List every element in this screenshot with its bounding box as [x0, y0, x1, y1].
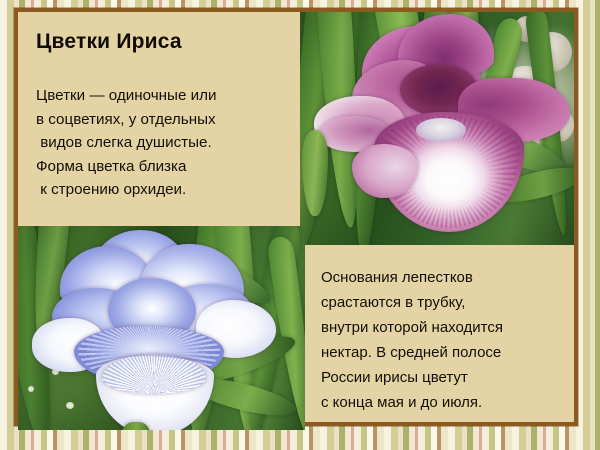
photo-iris-blue-violet [18, 226, 305, 430]
text-line: внутри которой находится [321, 315, 568, 340]
photo-iris-purple-magenta [300, 12, 574, 245]
text-line: видов слегка душистые. [36, 131, 292, 155]
text-line: нектар. В средней полосе [321, 340, 568, 365]
text-line: Основания лепестков [321, 265, 568, 290]
text-line: с конца мая и до июля. [321, 390, 568, 415]
text-panel-bottom-right: Основания лепестков срастаются в трубку,… [305, 245, 574, 422]
page-title: Цветки Ириса [36, 30, 292, 54]
text-line: срастаются в трубку, [321, 290, 568, 315]
text-line: Форма цветка близка [36, 155, 292, 179]
slide-canvas: Цветки Ириса Цветки — одиночные или в со… [0, 0, 600, 450]
slide-inner-frame: Цветки Ириса Цветки — одиночные или в со… [14, 8, 578, 426]
text-line: России ирисы цветут [321, 365, 568, 390]
text-line: Цветки — одиночные или [36, 84, 292, 108]
text-line: к строению орхидеи. [36, 178, 292, 202]
text-line: в соцветиях, у отдельных [36, 108, 292, 132]
text-panel-top-left: Цветки Ириса Цветки — одиночные или в со… [18, 12, 300, 226]
